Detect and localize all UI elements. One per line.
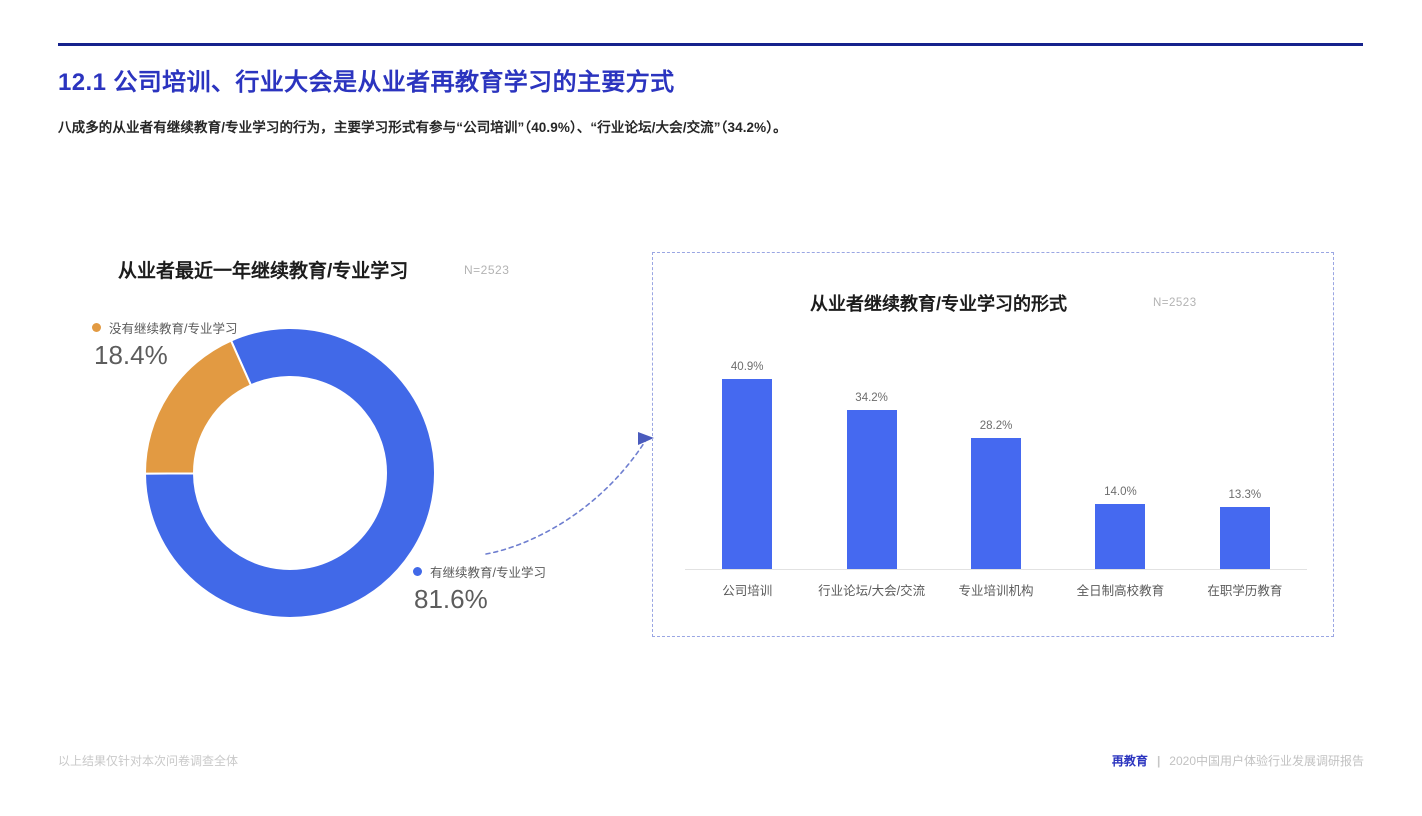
slide-page: 12.1 公司培训、行业大会是从业者再教育学习的主要方式 八成多的从业者有继续教… xyxy=(0,0,1422,816)
footer-section-label: 再教育 xyxy=(1112,752,1148,769)
bar-value-label: 28.2% xyxy=(980,420,1013,432)
bar-rect[interactable] xyxy=(1220,507,1270,569)
bar-value-label: 14.0% xyxy=(1104,486,1137,498)
bar-chart-panel: 从业者继续教育/专业学习的形式 N=2523 40.9% 34.2% 28.2%… xyxy=(652,252,1334,637)
bar-rect[interactable] xyxy=(971,438,1021,569)
legend-label-no-education: 没有继续教育/专业学习 xyxy=(109,318,237,337)
bar-category-label: 全日制高校教育 xyxy=(1058,580,1182,599)
legend-dot-blue xyxy=(413,567,422,576)
footer-divider: | xyxy=(1157,754,1160,768)
bar-column[interactable]: 13.3% xyxy=(1183,323,1307,569)
footer-report-title: 2020中国用户体验行业发展调研报告 xyxy=(1169,752,1364,769)
bar-value-label: 34.2% xyxy=(855,392,888,404)
bar-value-label: 13.3% xyxy=(1229,489,1262,501)
legend-item-has-education[interactable]: 有继续教育/专业学习 xyxy=(413,562,546,581)
footer-branding: 再教育 | 2020中国用户体验行业发展调研报告 xyxy=(1112,752,1364,769)
bar-chart-title: 从业者继续教育/专业学习的形式 xyxy=(810,290,1067,316)
bar-category-label: 专业培训机构 xyxy=(934,580,1058,599)
footer-note: 以上结果仅针对本次问卷调查全体 xyxy=(58,752,238,769)
legend-value-has-education: 81.6% xyxy=(414,584,488,615)
legend-value-no-education: 18.4% xyxy=(94,340,168,371)
bar-value-label: 40.9% xyxy=(731,361,764,373)
bar-chart-bars: 40.9% 34.2% 28.2% 14.0% 13.3% xyxy=(685,323,1307,569)
donut-chart-title: 从业者最近一年继续教育/专业学习 xyxy=(118,256,408,283)
bar-column[interactable]: 40.9% xyxy=(685,323,809,569)
bar-column[interactable]: 14.0% xyxy=(1058,323,1182,569)
bar-category-label: 在职学历教育 xyxy=(1183,580,1307,599)
bar-category-label: 行业论坛/大会/交流 xyxy=(809,580,933,599)
donut-sample-size: N=2523 xyxy=(464,263,509,277)
bar-rect[interactable] xyxy=(847,410,897,569)
bar-sample-size: N=2523 xyxy=(1153,297,1197,309)
legend-item-no-education[interactable]: 没有继续教育/专业学习 xyxy=(92,318,237,337)
bar-rect[interactable] xyxy=(722,379,772,569)
bar-chart-categories: 公司培训 行业论坛/大会/交流 专业培训机构 全日制高校教育 在职学历教育 xyxy=(685,580,1307,599)
bar-chart-baseline xyxy=(685,569,1307,570)
bar-rect[interactable] xyxy=(1095,504,1145,569)
bar-column[interactable]: 34.2% xyxy=(809,323,933,569)
bar-column[interactable]: 28.2% xyxy=(934,323,1058,569)
legend-label-has-education: 有继续教育/专业学习 xyxy=(430,562,546,581)
donut-chart-block: 从业者最近一年继续教育/专业学习 N=2523 没有继续教育/专业学习 18.4… xyxy=(0,0,640,700)
legend-dot-orange xyxy=(92,323,101,332)
bar-category-label: 公司培训 xyxy=(685,580,809,599)
donut-chart-svg xyxy=(143,326,437,620)
